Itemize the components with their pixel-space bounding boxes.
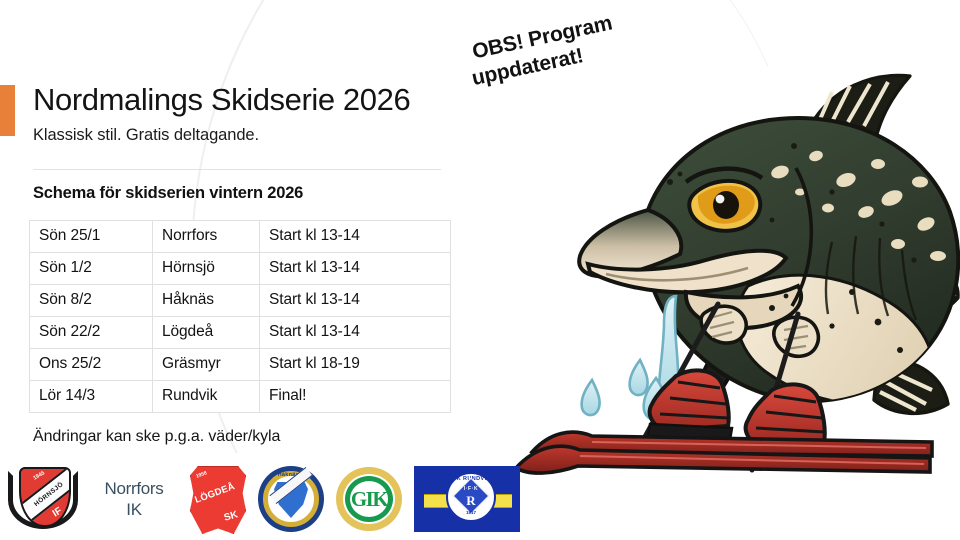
schedule-table-body: Sön 25/1 Norrfors Start kl 13-14 Sön 1/2… bbox=[30, 221, 451, 413]
ski-poles bbox=[630, 304, 798, 470]
gill-line bbox=[792, 168, 811, 306]
cell-date: Lör 14/3 bbox=[30, 381, 153, 413]
schedule-heading: Schema för skidserien vintern 2026 bbox=[33, 184, 303, 203]
table-row: Lör 14/3 Rundvik Final! bbox=[30, 381, 451, 413]
fish-eye bbox=[686, 169, 762, 231]
upper-tail-fin bbox=[904, 272, 958, 324]
logo-initials: IF bbox=[51, 505, 64, 519]
cell-date: Sön 25/1 bbox=[30, 221, 153, 253]
cell-date: Sön 22/2 bbox=[30, 317, 153, 349]
table-row: Sön 22/2 Lögdeå Start kl 13-14 bbox=[30, 317, 451, 349]
logo-gik[interactable]: GIK bbox=[334, 464, 404, 534]
page-subtitle: Klassisk stil. Gratis deltagande. bbox=[33, 126, 259, 145]
cell-time: Start kl 13-14 bbox=[260, 253, 451, 285]
cell-place: Hörnsjö bbox=[153, 253, 260, 285]
logo-initials: I·F·K bbox=[458, 486, 484, 492]
cell-time: Final! bbox=[260, 381, 451, 413]
tail-fin bbox=[874, 359, 948, 413]
cell-time: Start kl 13-14 bbox=[260, 285, 451, 317]
nostril-dots bbox=[656, 172, 683, 193]
cell-date: Sön 8/2 bbox=[30, 285, 153, 317]
table-row: Ons 25/2 Gräsmyr Start kl 18-19 bbox=[30, 349, 451, 381]
poster-canvas: Nordmalings Skidserie 2026 Klassisk stil… bbox=[0, 0, 960, 540]
skis bbox=[516, 432, 932, 473]
cell-time: Start kl 13-14 bbox=[260, 317, 451, 349]
logo-norrfors-ik[interactable]: Norrfors IK bbox=[88, 467, 180, 531]
fish-snout bbox=[579, 210, 801, 328]
logo-wordmark: HÖRNSJÖ bbox=[33, 481, 65, 508]
logo-year: 1945 bbox=[32, 470, 46, 481]
cell-place: Norrfors bbox=[153, 221, 260, 253]
logo-wordmark: GIK bbox=[351, 487, 387, 512]
fish-body bbox=[643, 118, 958, 405]
pike-skier-illustration bbox=[480, 60, 960, 480]
cell-date: Sön 1/2 bbox=[30, 253, 153, 285]
cell-time: Start kl 18-19 bbox=[260, 349, 451, 381]
orange-accent-bar bbox=[0, 85, 15, 136]
page-title: Nordmalings Skidserie 2026 bbox=[33, 82, 410, 118]
cell-time: Start kl 13-14 bbox=[260, 221, 451, 253]
ski-pole-baskets bbox=[622, 452, 762, 460]
cell-place: Lögdeå bbox=[153, 317, 260, 349]
body-spots bbox=[751, 149, 946, 261]
logo-haknas-if[interactable]: Håknäs IF bbox=[256, 464, 326, 534]
fish-legs bbox=[698, 292, 832, 408]
disclaimer-note: Ändringar kan ske p.g.a. väder/kyla bbox=[33, 428, 280, 446]
logo-hornsjo-if[interactable]: 1945 HÖRNSJÖ IF bbox=[4, 463, 82, 535]
table-row: Sön 1/2 Hörnsjö Start kl 13-14 bbox=[30, 253, 451, 285]
ski-boot-left bbox=[648, 370, 732, 440]
table-row: Sön 8/2 Håknäs Start kl 13-14 bbox=[30, 285, 451, 317]
green-disc-icon: GIK bbox=[345, 476, 393, 522]
logo-line-2: IK bbox=[126, 499, 141, 520]
fish-arms bbox=[701, 306, 818, 356]
divider-rule bbox=[33, 169, 441, 170]
logo-line-1: Norrfors bbox=[105, 478, 164, 499]
schedule-table: Sön 25/1 Norrfors Start kl 13-14 Sön 1/2… bbox=[29, 220, 451, 413]
logo-logdea-sk[interactable]: 1958 LÖGDEÅ SK bbox=[186, 462, 248, 536]
sponsor-logo-strip: 1945 HÖRNSJÖ IF Norrfors IK 1958 LÖGDEÅ … bbox=[0, 458, 520, 540]
body-dark-dots bbox=[770, 143, 917, 353]
cell-date: Ons 25/2 bbox=[30, 349, 153, 381]
drool bbox=[582, 296, 679, 420]
logo-year: 1917 bbox=[458, 510, 484, 515]
cell-place: Håknäs bbox=[153, 285, 260, 317]
cell-place: Gräsmyr bbox=[153, 349, 260, 381]
cell-place: Rundvik bbox=[153, 381, 260, 413]
ski-boot-right bbox=[744, 384, 828, 456]
logo-monogram: R bbox=[458, 493, 484, 509]
dorsal-fin bbox=[810, 75, 910, 138]
update-stamp: OBS! Program uppdaterat! bbox=[470, 10, 620, 91]
table-row: Sön 25/1 Norrfors Start kl 13-14 bbox=[30, 221, 451, 253]
logo-ifk-rundvik[interactable]: IFK RUNDVIK I·F·K R 1917 bbox=[414, 463, 522, 535]
